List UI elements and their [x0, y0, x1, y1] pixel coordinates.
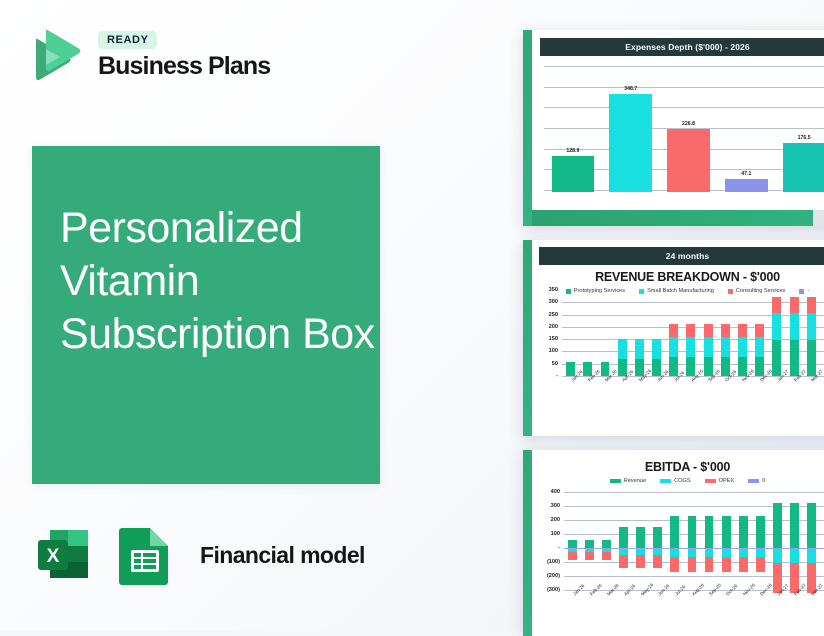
stacked-bar-segment [807, 313, 816, 340]
bar-value-label: 47.1 [741, 171, 751, 177]
y-axis-tick: - [538, 545, 560, 551]
y-axis-tick: (200) [538, 573, 560, 579]
stacked-bar-segment [653, 527, 662, 548]
stacked-bar-segment [568, 540, 577, 548]
bar-value-label: 176.5 [798, 135, 811, 141]
stacked-bar-segment [790, 503, 799, 548]
chart2-period-header: 24 months [539, 247, 824, 265]
stacked-bar-segment [670, 557, 679, 573]
brand-name: Business Plans [98, 52, 270, 81]
y-axis-tick: 100 [538, 348, 558, 354]
google-sheets-icon [114, 522, 176, 588]
stacked-bar-segment [773, 548, 782, 563]
play-triangles-logo-icon [22, 25, 84, 87]
brand-header: READY Business Plans [22, 25, 270, 87]
y-axis-tick: 300 [538, 503, 560, 509]
stacked-bar-segment [772, 297, 781, 312]
y-axis-tick: 150 [538, 336, 558, 342]
stacked-bar-segment [704, 324, 713, 336]
stacked-bar-segment [585, 552, 594, 560]
stacked-bar-segment [756, 557, 765, 573]
stacked-bar-segment [686, 324, 695, 336]
legend-item: OPEX [705, 478, 735, 484]
legend-swatch-icon [705, 479, 716, 483]
stacked-bar-segment [585, 540, 594, 548]
stacked-bar-segment [807, 297, 816, 312]
stacked-bar-segment [636, 555, 645, 568]
legend-label: COGS [674, 478, 690, 484]
gridline [544, 87, 824, 88]
stacked-bar-segment [721, 324, 730, 336]
stacked-bar-segment [755, 337, 764, 357]
stacked-bar-segment [755, 324, 764, 336]
bar [667, 129, 710, 193]
bar-value-label: 226.8 [682, 121, 695, 127]
svg-text:X: X [47, 546, 60, 567]
stacked-bar-segment [807, 548, 816, 563]
bar-value-label: 128.9 [566, 148, 579, 154]
stacked-bar-segment [756, 516, 765, 548]
card1-footer-bar [532, 210, 822, 226]
chart-card-expenses-depth: Expenses Depth ($'000) - 2026 128.9348.7… [523, 30, 824, 226]
card-accent-bar [523, 450, 532, 636]
stacked-bar-segment [705, 516, 714, 548]
stacked-bar-segment [807, 503, 816, 548]
chart-card-ebitda: EBITDA - $'000 RevenueCOGSOPEX0 40030020… [523, 450, 824, 636]
y-axis-tick: 350 [538, 287, 558, 293]
gridline [564, 576, 824, 577]
card1-footer-tail [813, 210, 824, 226]
legend-label: 0 [762, 478, 765, 484]
financial-model-label: Financial model [200, 542, 365, 569]
y-axis-tick: 400 [538, 489, 560, 495]
stacked-bar-segment [602, 540, 611, 548]
chart3-title: EBITDA - $'000 [532, 460, 824, 474]
page-title: Personalized Vitamin Subscription Box [60, 202, 390, 361]
stacked-bar-segment [653, 555, 662, 568]
y-axis-tick: 200 [538, 324, 558, 330]
legend-swatch-icon [660, 479, 671, 483]
stacked-bar-segment [635, 339, 644, 359]
format-row: X Financial model [30, 522, 365, 588]
bar [725, 179, 768, 192]
stacked-bar-segment [686, 337, 695, 357]
stacked-bar-segment [670, 516, 679, 548]
y-axis-tick: 250 [538, 312, 558, 318]
chart1-title: Expenses Depth ($'000) - 2026 [540, 38, 824, 56]
y-axis-tick: 100 [538, 531, 560, 537]
y-axis-tick: 200 [538, 517, 560, 523]
stacked-bar-segment [652, 339, 661, 359]
chart3-legend: RevenueCOGSOPEX0 [532, 478, 824, 484]
gridline [544, 66, 824, 67]
chart-card-revenue-breakdown: 24 months REVENUE BREAKDOWN - $'000 Prot… [523, 240, 824, 436]
y-axis-tick: 50 [538, 361, 558, 367]
stacked-bar-segment [619, 555, 628, 568]
bar [783, 143, 824, 192]
stacked-bar-segment [704, 337, 713, 357]
stacked-bar-segment [807, 340, 816, 376]
microsoft-excel-icon: X [30, 522, 96, 588]
stacked-bar-segment [721, 337, 730, 357]
card-accent-bar [523, 240, 532, 436]
stacked-bar-segment [619, 527, 628, 548]
bar-value-label: 348.7 [624, 86, 637, 92]
stacked-bar-segment [602, 552, 611, 560]
card-accent-bar [523, 30, 532, 226]
stacked-bar-segment [755, 357, 764, 376]
y-axis-tick: 300 [538, 299, 558, 305]
gridline [562, 315, 824, 316]
zero-reference-line [564, 548, 824, 549]
stacked-bar-segment [790, 548, 799, 563]
legend-label: Revenue [624, 478, 646, 484]
stacked-bar-segment [669, 357, 678, 376]
gridline [564, 492, 824, 493]
stacked-bar-segment [636, 527, 645, 548]
stacked-bar-segment [669, 337, 678, 357]
y-axis-tick: - [538, 373, 558, 379]
stacked-bar-segment [738, 324, 747, 336]
bar [552, 156, 595, 192]
bar [609, 94, 652, 192]
gridline [562, 302, 824, 303]
legend-label: OPEX [719, 478, 735, 484]
stacked-bar-segment [772, 340, 781, 376]
legend-item: Revenue [610, 478, 646, 484]
chart1-plot: 128.9348.7226.847.1176.5 [544, 66, 824, 196]
chart3-plot: 400300200100-(100)(200)(300)Jan-26Feb-26… [538, 492, 824, 618]
stacked-bar-segment [739, 516, 748, 548]
legend-item: 0 [748, 478, 765, 484]
stacked-bar-segment [705, 557, 714, 573]
stacked-bar-segment [772, 313, 781, 340]
stacked-bar-segment [790, 297, 799, 312]
chart2-title: REVENUE BREAKDOWN - $'000 [532, 270, 824, 284]
stacked-bar-segment [773, 503, 782, 548]
stacked-bar-segment [722, 516, 731, 548]
stacked-bar-segment [790, 313, 799, 340]
stacked-bar-segment [568, 552, 577, 560]
stacked-bar-segment [790, 340, 799, 376]
stacked-bar-segment [739, 557, 748, 573]
stacked-bar-segment [738, 337, 747, 357]
legend-swatch-icon [748, 479, 759, 483]
y-axis-tick: (100) [538, 559, 560, 565]
stacked-bar-segment [688, 557, 697, 573]
stacked-bar-segment [688, 516, 697, 548]
y-axis-tick: (300) [538, 587, 560, 593]
gridline [564, 506, 824, 507]
stacked-bar-segment [669, 324, 678, 336]
chart2-plot: 35030025020015010050-Jan-26Feb-26Mar-26A… [538, 290, 824, 402]
legend-swatch-icon [610, 479, 621, 483]
hero-panel: Personalized Vitamin Subscription Box [32, 146, 380, 484]
ready-badge: READY [98, 31, 157, 49]
gridline [544, 107, 824, 108]
legend-item: COGS [660, 478, 690, 484]
stacked-bar-segment [722, 557, 731, 573]
stacked-bar-segment [618, 339, 627, 359]
